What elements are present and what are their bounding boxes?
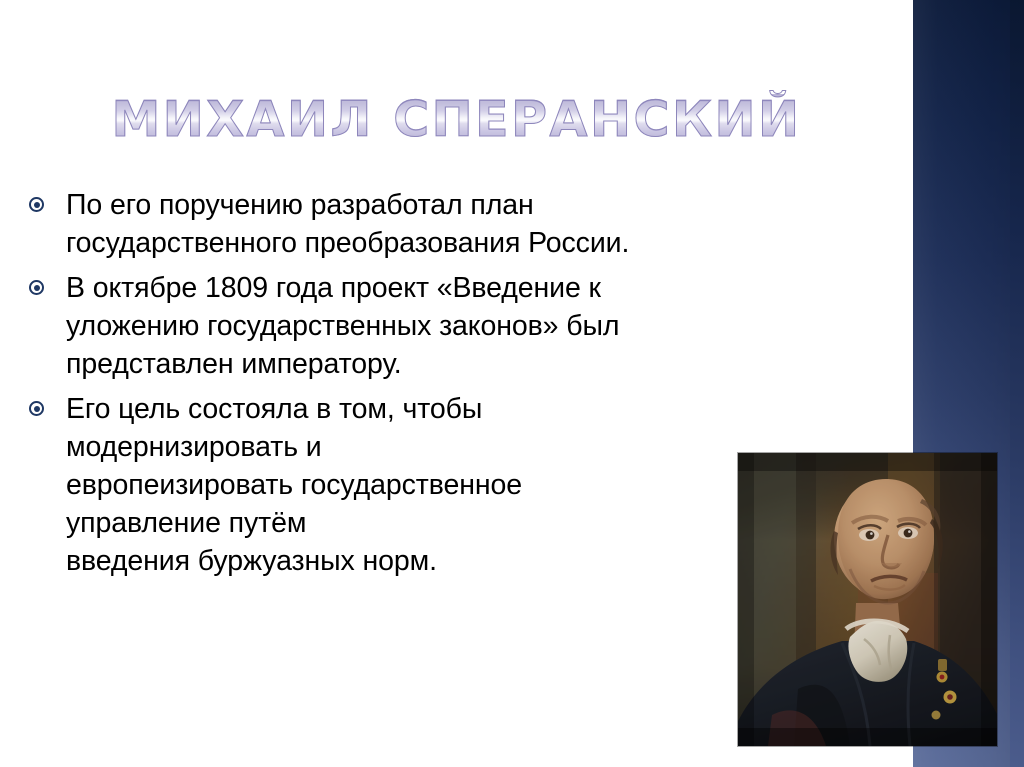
slide: Михаил Сперанский По его поручению разра… [0,0,1024,767]
speransky-portrait [738,453,997,746]
title-container: Михаил Сперанский [0,94,913,145]
list-item: В октябре 1809 года проект «Введение к у… [26,269,726,383]
circled-dot-bullet-icon [29,197,44,212]
page-title: Михаил Сперанский [111,94,801,145]
bullet-list: По его поручению разработал план государ… [26,186,726,587]
bullet-line: модернизировать и [66,428,726,466]
circled-dot-bullet-icon [29,401,44,416]
bullet-line: уложению государственных законов» был [66,307,726,345]
bullet-line: введения буржуазных норм. [66,542,726,580]
bullet-line: Его цель состояла в том, чтобы [66,390,726,428]
bullet-line: государственного преобразования России. [66,224,726,262]
bullet-line: европеизировать государственное [66,466,726,504]
circled-dot-bullet-icon [29,280,44,295]
list-item: По его поручению разработал план государ… [26,186,726,262]
portrait-illustration [738,453,997,746]
bullet-line: По его поручению разработал план [66,186,726,224]
side-panel-edge [1010,0,1024,767]
bullet-line: управление путём [66,504,726,542]
bullet-line: В октябре 1809 года проект «Введение к [66,269,726,307]
bullet-line: представлен императору. [66,345,726,383]
list-item: Его цель состояла в том, чтобы модернизи… [26,390,726,580]
